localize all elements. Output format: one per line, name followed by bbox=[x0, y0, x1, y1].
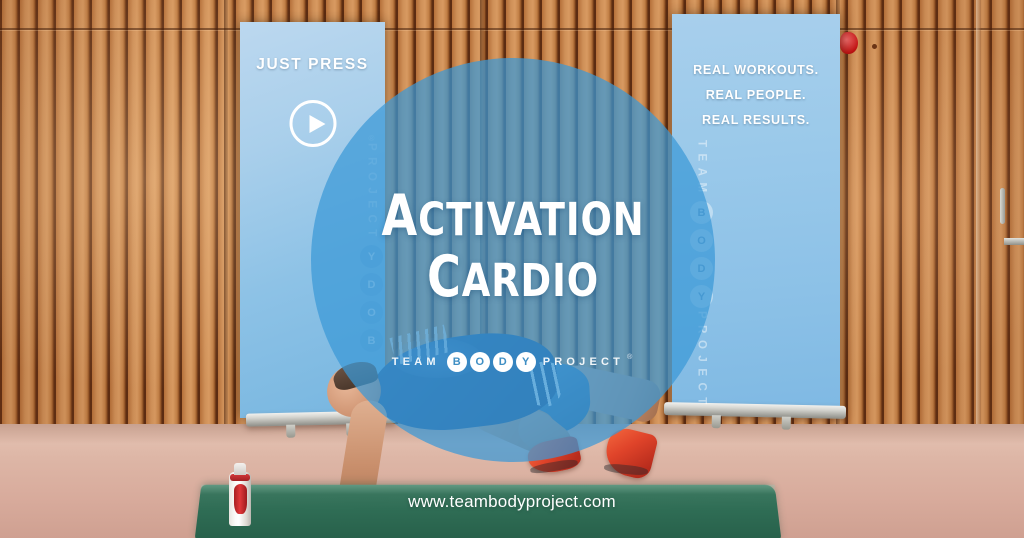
tagline-line-2: REAL PEOPLE. bbox=[672, 83, 840, 108]
play-circle-icon bbox=[289, 100, 336, 147]
mat-highlight bbox=[200, 485, 776, 495]
logo-dot-y: Y bbox=[360, 245, 383, 268]
banner-right-tagline: REAL WORKOUTS. REAL PEOPLE. REAL RESULTS… bbox=[672, 58, 840, 133]
wall-panel-divider bbox=[224, 0, 228, 430]
logo-dot-y: Y bbox=[690, 285, 713, 308]
door-rail bbox=[1004, 238, 1024, 245]
vertical-word-project: PROJECT bbox=[696, 311, 708, 411]
logo-dot-d: D bbox=[690, 257, 713, 280]
water-bottle-ring bbox=[230, 474, 250, 481]
water-bottle-cap bbox=[234, 463, 246, 475]
logo-dot-b: B bbox=[690, 201, 713, 224]
tagline-line-1: REAL WORKOUTS. bbox=[672, 58, 840, 83]
wall-screw bbox=[872, 44, 877, 49]
registered-mark: ® bbox=[369, 134, 375, 143]
logo-dot-d: D bbox=[360, 273, 383, 296]
door-edge bbox=[976, 0, 981, 430]
logo-dot-o: O bbox=[690, 229, 713, 252]
green-exercise-mat bbox=[195, 485, 782, 538]
door-handle-icon[interactable] bbox=[1000, 188, 1005, 224]
wall-seam-highlight bbox=[0, 30, 1024, 31]
vertical-word-team: TEAM bbox=[696, 140, 708, 199]
tagline-line-3: REAL RESULTS. bbox=[672, 108, 840, 133]
banner-left-vertical-logo: ® PROJECT Y D O B bbox=[360, 132, 383, 355]
banner-left-headline: JUST PRESS bbox=[240, 56, 385, 74]
vertical-word-project: PROJECT bbox=[366, 143, 378, 243]
banner-right-vertical-logo: TEAM B O D Y PROJECT bbox=[690, 140, 713, 410]
play-triangle-icon bbox=[309, 115, 325, 133]
logo-dot-b: B bbox=[360, 329, 383, 352]
red-alarm-light-icon bbox=[840, 32, 858, 54]
water-bottle-label bbox=[234, 484, 247, 514]
video-frame: JUST PRESS ® PROJECT Y D O B REAL WORKOU… bbox=[0, 0, 1024, 538]
logo-dot-o: O bbox=[360, 301, 383, 324]
